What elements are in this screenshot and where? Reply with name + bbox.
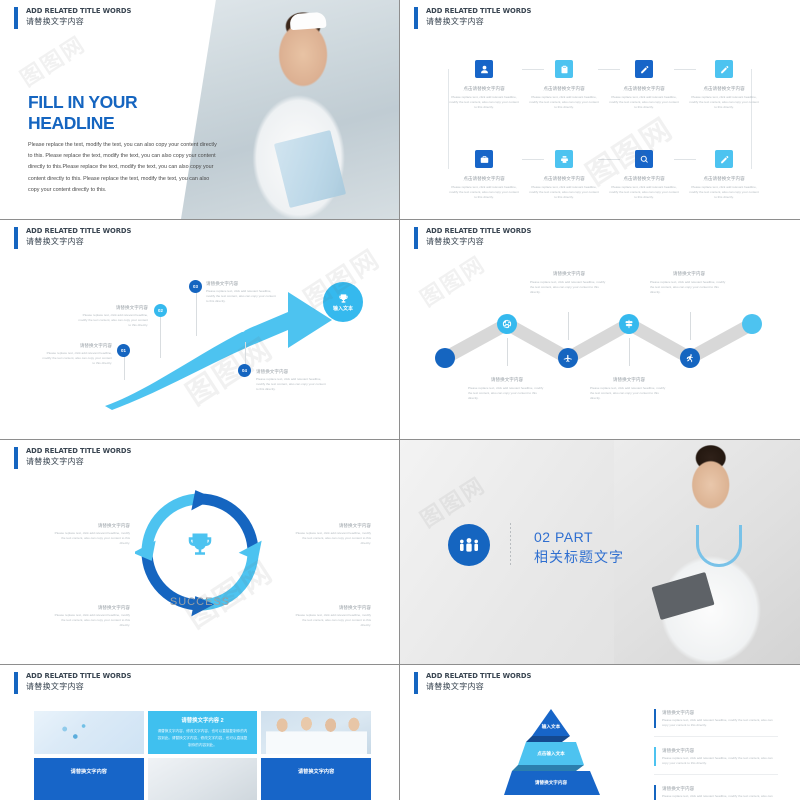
- lab-photo: [34, 711, 144, 754]
- blue-text-card-2: 请替换文字内容: [261, 758, 371, 800]
- timeline-node-globe[interactable]: [497, 314, 517, 334]
- step-pin-04[interactable]: 04: [238, 364, 251, 377]
- pyramid-level-2-label: 点击输入文本: [523, 746, 579, 762]
- pencil-icon[interactable]: [715, 60, 733, 78]
- header-title-cn: 请替换文字内容: [426, 681, 540, 693]
- pyramid-diagram: 输入文本 点击输入文本 请替换文字内容: [496, 709, 606, 795]
- process-item-body: Please replace text, click add relevant …: [448, 185, 520, 200]
- search-icon[interactable]: [635, 150, 653, 168]
- page-title: FILL IN YOUR HEADLINE: [28, 92, 137, 134]
- cycle-block-3: 请替换文字内容 Please replace text, click add r…: [50, 604, 130, 628]
- list-item: 请替换文字内容 Please replace text, click add r…: [654, 747, 778, 775]
- runner-icon: [685, 353, 695, 363]
- team-thumbsup-photo: [261, 711, 371, 754]
- part-title: 相关标题文字: [534, 547, 624, 567]
- header-accent-bar: [14, 7, 18, 29]
- process-item-body: Please replace text, click add relevant …: [688, 95, 760, 110]
- process-item[interactable]: 点击请替换文字内容Please replace text, click add …: [528, 150, 600, 200]
- card-title: 请替换文字内容 2: [181, 716, 223, 724]
- path-dot: [240, 327, 245, 332]
- header-title-cn: 请替换文字内容: [26, 456, 140, 468]
- process-item[interactable]: 点击请替换文字内容Please replace text, click add …: [608, 60, 680, 110]
- goal-badge[interactable]: 输入文本: [323, 282, 363, 322]
- process-item-body: Please replace text, click add relevant …: [528, 95, 600, 110]
- step-pin-03[interactable]: 03: [189, 280, 202, 293]
- timeline-block-bottom-2: 请替换文字内容 Please replace text, click add r…: [590, 376, 668, 401]
- process-item[interactable]: 点击请替换文字内容Please replace text, click add …: [528, 60, 600, 110]
- headline-line-2: HEADLINE: [28, 113, 137, 134]
- hands-photo: [148, 758, 258, 800]
- goal-label: 输入文本: [333, 305, 353, 312]
- slide-header: ADD RELATED TITLE WORDS 请替换文字内容: [14, 446, 140, 469]
- process-grid: 点击请替换文字内容Please replace text, click add …: [448, 60, 760, 200]
- item-accent-bar: [654, 709, 656, 728]
- trophy-icon: [338, 293, 349, 304]
- blue-text-card-1: 请替换文字内容: [34, 758, 144, 800]
- header-title-cn: 请替换文字内容: [26, 681, 140, 693]
- people-group-icon: [457, 538, 481, 552]
- header-accent-bar: [414, 672, 418, 694]
- curved-arrow-graphic: [0, 220, 400, 440]
- step-block-01: 请替换文字内容 Please replace text, click add r…: [40, 342, 112, 366]
- process-item[interactable]: 点击请替换文字内容Please replace text, click add …: [688, 150, 760, 200]
- step-pin-01[interactable]: 01: [117, 344, 130, 357]
- process-item-body: Please replace text, click add relevant …: [608, 185, 680, 200]
- card-title: 请替换文字内容: [298, 768, 334, 775]
- timeline-block-top-1: 请替换文字内容 Please replace text, click add r…: [530, 270, 608, 295]
- clipboard-icon[interactable]: [555, 60, 573, 78]
- slide-3-arrow-roadmap[interactable]: ADD RELATED TITLE WORDS 请替换文字内容 01 02 03…: [0, 220, 400, 440]
- plane-icon: [563, 353, 573, 363]
- timeline-node-runner[interactable]: [680, 348, 700, 368]
- globe-icon: [502, 319, 512, 329]
- process-item-title: 点击请替换文字内容: [608, 85, 680, 92]
- track-start-cap: [435, 348, 455, 368]
- path-dot: [155, 362, 160, 367]
- process-item-title: 点击请替换文字内容: [448, 85, 520, 92]
- slide-4-zigzag-timeline[interactable]: ADD RELATED TITLE WORDS 请替换文字内容 请替换文字内容 …: [400, 220, 800, 440]
- process-item-title: 点击请替换文字内容: [528, 175, 600, 182]
- pyramid-level-1-label: 输入文本: [532, 719, 570, 735]
- process-item[interactable]: 点击请替换文字内容Please replace text, click add …: [448, 60, 520, 110]
- slide-header: ADD RELATED TITLE WORDS 请替换文字内容: [414, 671, 540, 694]
- slide-8-pyramid[interactable]: ADD RELATED TITLE WORDS 请替换文字内容 输入文本 点击输…: [400, 665, 800, 800]
- pen-icon[interactable]: [635, 60, 653, 78]
- step-block-02: 请替换文字内容 Please replace text, click add r…: [76, 304, 148, 328]
- cycle-block-2: 请替换文字内容 Please replace text, click add r…: [291, 522, 371, 546]
- process-item-title: 点击请替换文字内容: [608, 175, 680, 182]
- process-item-body: Please replace text, click add relevant …: [448, 95, 520, 110]
- header-title-cn: 请替换文字内容: [26, 16, 140, 28]
- process-item-body: Please replace text, click add relevant …: [688, 185, 760, 200]
- timeline-node-plane[interactable]: [558, 348, 578, 368]
- header-title-cn: 请替换文字内容: [426, 16, 540, 28]
- slide-6-section-divider[interactable]: 02 PART 相关标题文字 图图网: [400, 440, 800, 665]
- step-block-04: 请替换文字内容 Please replace text, click add r…: [256, 368, 328, 392]
- section-title-group: 02 PART 相关标题文字: [534, 528, 624, 567]
- process-item-body: Please replace text, click add relevant …: [528, 185, 600, 200]
- header-title-en: ADD RELATED TITLE WORDS: [26, 446, 131, 456]
- path-dot: [192, 344, 197, 349]
- pyramid-level-3-label: 请替换文字内容: [516, 775, 586, 791]
- stethoscope-shape: [696, 525, 742, 567]
- process-item[interactable]: 点击请替换文字内容Please replace text, click add …: [608, 150, 680, 200]
- slide-2-process-loop[interactable]: ADD RELATED TITLE WORDS 请替换文字内容 点击请替换文字内…: [400, 0, 800, 220]
- slide-header: ADD RELATED TITLE WORDS 请替换文字内容: [14, 671, 140, 694]
- card-title: 请替换文字内容: [71, 768, 107, 775]
- pencil-icon[interactable]: [715, 150, 733, 168]
- slide-header: ADD RELATED TITLE WORDS 请替换文字内容: [414, 6, 540, 29]
- track-end-cap: [742, 314, 762, 334]
- cycle-arrows-graphic: SUCCESS: [135, 487, 265, 617]
- part-label: 02 PART: [534, 528, 624, 547]
- printer-icon[interactable]: [555, 150, 573, 168]
- section-badge: [448, 524, 490, 566]
- card-body: 请替换文字内容，修改文字内容，也可以直接复制你的内容到此。请替换文字内容，修改文…: [157, 728, 249, 749]
- node-lead-line: [690, 312, 691, 340]
- cycle-block-4: 请替换文字内容 Please replace text, click add r…: [291, 604, 371, 628]
- slide-header: ADD RELATED TITLE WORDS 请替换文字内容: [14, 6, 140, 29]
- timeline-block-top-2: 请替换文字内容 Please replace text, click add r…: [650, 270, 728, 295]
- cyan-text-card: 请替换文字内容 2 请替换文字内容，修改文字内容，也可以直接复制你的内容到此。请…: [148, 711, 258, 754]
- timeline-block-bottom-1: 请替换文字内容 Please replace text, click add r…: [468, 376, 546, 401]
- process-row-bottom: 点击请替换文字内容Please replace text, click add …: [448, 150, 760, 200]
- timeline-node-signpost[interactable]: [619, 314, 639, 334]
- process-item-title: 点击请替换文字内容: [688, 175, 760, 182]
- slide-5-cycle-diagram[interactable]: ADD RELATED TITLE WORDS 请替换文字内容 SUCCESS …: [0, 440, 400, 665]
- node-lead-line: [629, 338, 630, 366]
- person-icon[interactable]: [475, 60, 493, 78]
- signpost-icon: [624, 319, 634, 329]
- content-grid: 请替换文字内容 2 请替换文字内容，修改文字内容，也可以直接复制你的内容到此。请…: [34, 711, 371, 800]
- slide-7-image-text-grid[interactable]: ADD RELATED TITLE WORDS 请替换文字内容 请替换文字内容 …: [0, 665, 400, 800]
- header-title-en: ADD RELATED TITLE WORDS: [426, 671, 531, 681]
- watermark: 图图网: [413, 468, 491, 534]
- nurse-cap: [289, 12, 326, 30]
- cycle-block-1: 请替换文字内容 Please replace text, click add r…: [50, 522, 130, 546]
- divider-line: [510, 523, 511, 567]
- cycle-center-label: SUCCESS: [169, 596, 229, 608]
- slide-thumbnail-grid: ADD RELATED TITLE WORDS 请替换文字内容 FILL IN …: [0, 0, 800, 800]
- list-item: 请替换文字内容 Please replace text, click add r…: [654, 785, 778, 800]
- step-stem: [160, 312, 161, 358]
- step-block-03: 请替换文字内容 Please replace text, click add r…: [206, 280, 278, 304]
- header-title-en: ADD RELATED TITLE WORDS: [426, 6, 531, 16]
- process-item-body: Please replace text, click add relevant …: [608, 95, 680, 110]
- watermark: 图图网: [13, 27, 91, 93]
- list-item: 请替换文字内容 Please replace text, click add r…: [654, 709, 778, 737]
- node-lead-line: [507, 338, 508, 366]
- header-accent-bar: [14, 672, 18, 694]
- process-item-title: 点击请替换文字内容: [448, 175, 520, 182]
- pyramid-text-list: 请替换文字内容 Please replace text, click add r…: [654, 709, 778, 800]
- process-item-title: 点击请替换文字内容: [688, 85, 760, 92]
- headline-line-1: FILL IN YOUR: [28, 92, 137, 113]
- header-title-en: ADD RELATED TITLE WORDS: [26, 671, 131, 681]
- process-item[interactable]: 点击请替换文字内容Please replace text, click add …: [688, 60, 760, 110]
- body-paragraph: Please replace the text, modify the text…: [28, 140, 218, 196]
- item-accent-bar: [654, 747, 656, 766]
- zigzag-track: [400, 220, 800, 440]
- step-stem: [196, 288, 197, 336]
- process-item-title: 点击请替换文字内容: [528, 85, 600, 92]
- item-accent-bar: [654, 785, 656, 800]
- doctor-photo: [614, 440, 800, 664]
- process-item[interactable]: 点击请替换文字内容Please replace text, click add …: [448, 150, 520, 200]
- header-accent-bar: [414, 7, 418, 29]
- process-row-top: 点击请替换文字内容Please replace text, click add …: [448, 60, 760, 110]
- step-pin-02[interactable]: 02: [154, 304, 167, 317]
- header-title-en: ADD RELATED TITLE WORDS: [26, 6, 131, 16]
- header-accent-bar: [14, 447, 18, 469]
- slide-1-cover[interactable]: ADD RELATED TITLE WORDS 请替换文字内容 FILL IN …: [0, 0, 400, 220]
- briefcase-icon[interactable]: [475, 150, 493, 168]
- node-lead-line: [568, 312, 569, 340]
